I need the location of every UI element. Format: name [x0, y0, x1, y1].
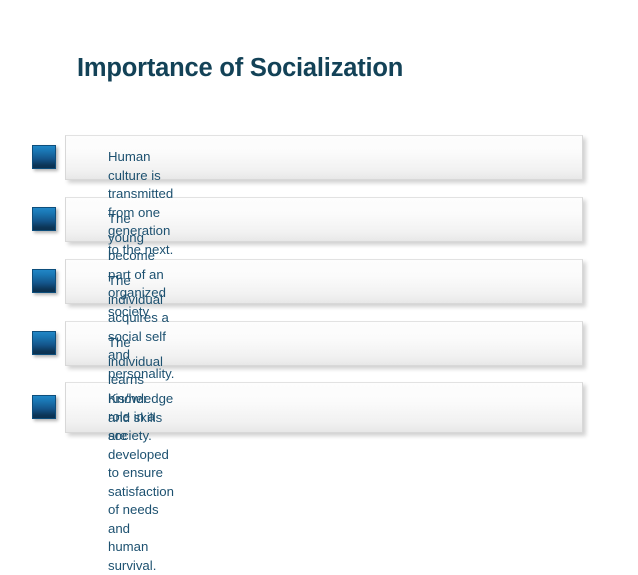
- bullet-list: Human culture is transmitted from one ge…: [0, 0, 638, 479]
- blue-square-bullet-icon: [32, 207, 56, 231]
- list-item-label: Knowledge and skills are developed to en…: [108, 390, 174, 575]
- blue-square-bullet-icon: [32, 331, 56, 355]
- blue-square-bullet-icon: [32, 269, 56, 293]
- blue-square-bullet-icon: [32, 145, 56, 169]
- slide-canvas: Importance of Socialization Human cultur…: [0, 0, 638, 479]
- blue-square-bullet-icon: [32, 395, 56, 419]
